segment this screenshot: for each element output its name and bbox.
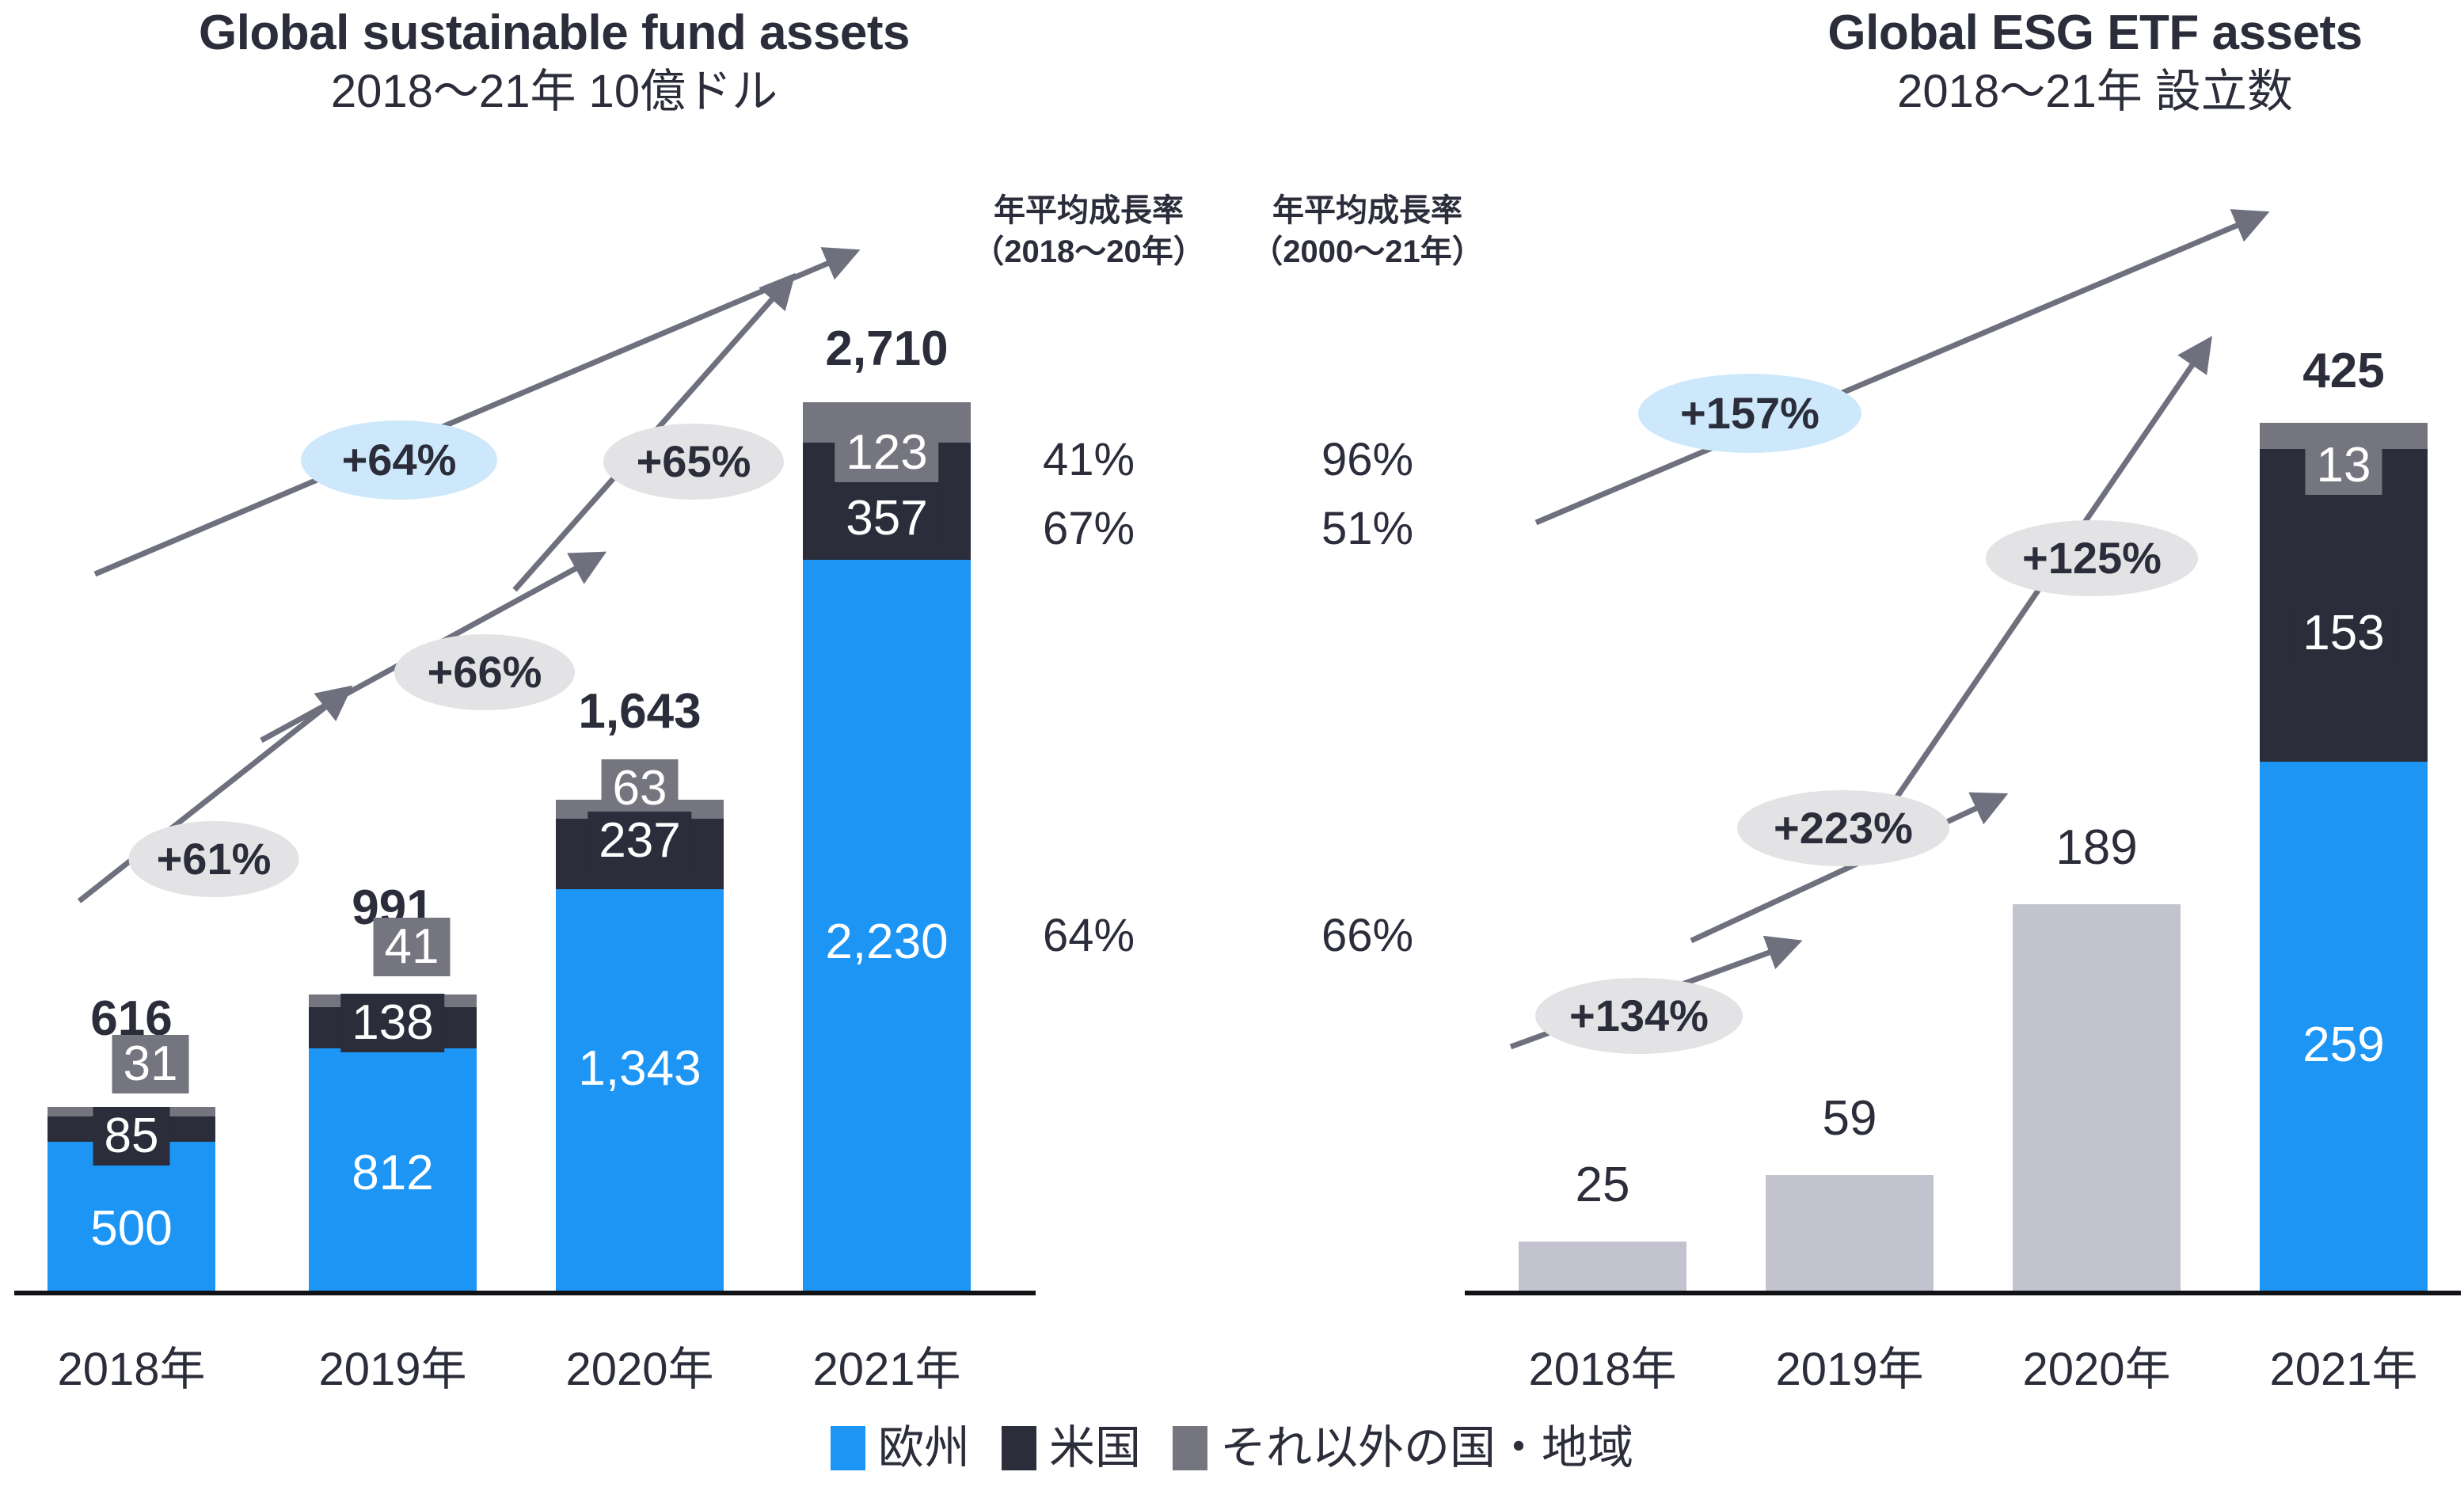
growth-bubble-overall-label: +64% [342,438,457,482]
legend-swatch-eu-icon [831,1426,865,1470]
legend-swatch-other-icon [1173,1426,1207,1470]
growth-bubble-2018-2019: +134% [1535,978,1743,1054]
right-chart-growth-arrows [1449,0,2464,1346]
growth-bubble-2018-2019-label: +134% [1569,994,1709,1038]
growth-bubble-overall: +64% [301,420,497,500]
growth-bubble-2020-2021-label: +125% [2022,536,2162,580]
growth-bubble-2019-2020: +223% [1737,790,1949,866]
arrow-overall-2018-2021 [1536,214,2264,523]
right-chart-plot: +134% +223% +125% +157% 25 59 189 425 13… [1449,0,2464,1346]
legend-label-us: 米国 [1049,1425,1141,1471]
growth-bubble-2018-2019-label: +61% [157,837,272,881]
legend-label-other: それ以外の国・地域 [1220,1425,1633,1471]
legend-label-eu: 欧州 [878,1425,970,1471]
legend-swatch-us-icon [1002,1426,1036,1470]
chart-legend: 欧州 米国 それ以外の国・地域 [0,1425,2464,1471]
arrow-overall-2018-2021 [95,252,855,574]
growth-bubble-2018-2019: +61% [129,821,299,897]
growth-bubble-2019-2020-label: +66% [428,650,542,694]
growth-bubble-2020-2021-label: +65% [637,439,751,484]
growth-bubble-2020-2021: +65% [603,424,784,500]
growth-bubble-2019-2020-label: +223% [1774,806,1913,850]
growth-bubble-2020-2021: +125% [1986,520,2198,596]
left-chart-plot: +61% +66% +65% +64% 616 31 85 500 991 41… [0,0,1053,1346]
growth-bubble-2019-2020: +66% [394,634,575,710]
legend-item-eu[interactable]: 欧州 [831,1425,970,1471]
growth-bubble-overall: +157% [1638,374,1861,453]
legend-item-other[interactable]: それ以外の国・地域 [1173,1425,1633,1471]
legend-item-us[interactable]: 米国 [1002,1425,1141,1471]
growth-bubble-overall-label: +157% [1680,391,1819,435]
